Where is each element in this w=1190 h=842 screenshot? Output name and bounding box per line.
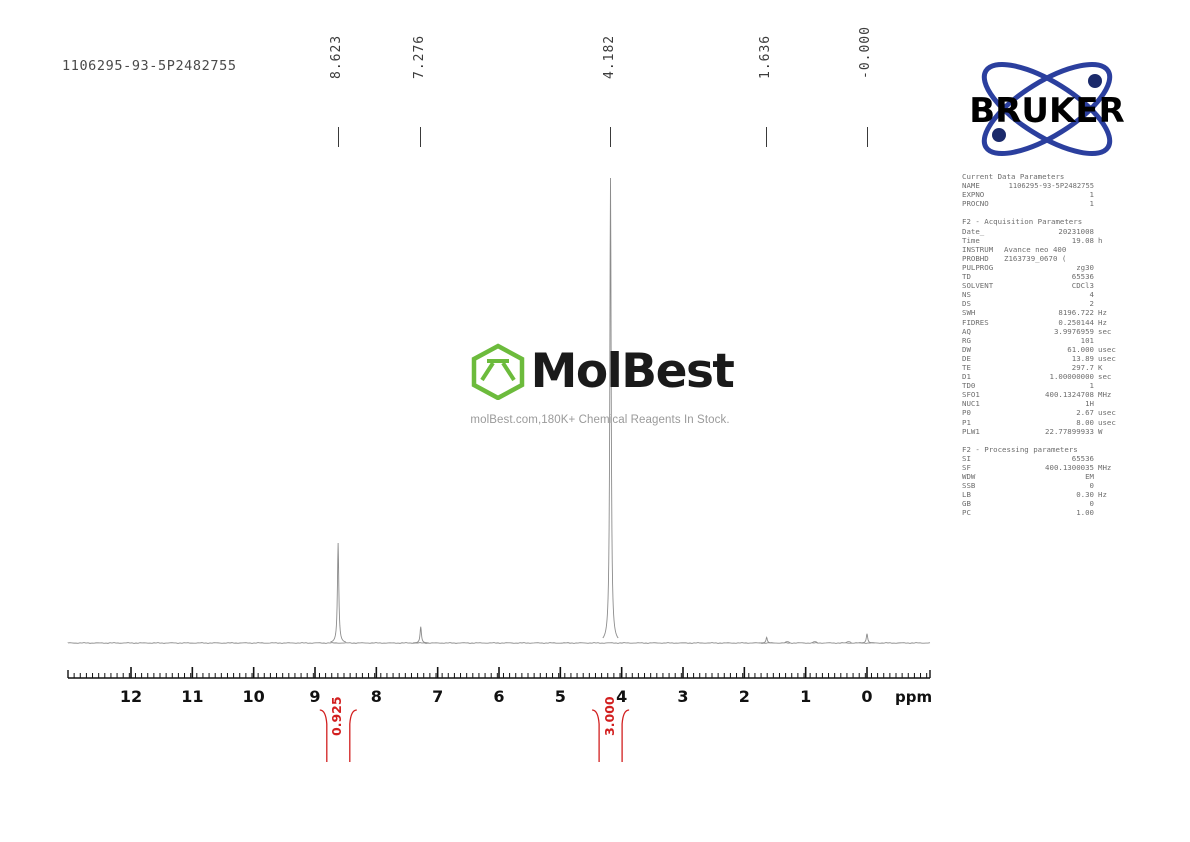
- param-unit: [1094, 290, 1124, 299]
- param-section-heading: Current Data Parameters: [962, 172, 1124, 181]
- param-value: 65536: [1004, 454, 1094, 463]
- param-key: DE: [962, 354, 1004, 363]
- param-unit: MHz: [1094, 390, 1124, 399]
- param-key: SF: [962, 463, 1004, 472]
- param-row: WDWEM: [962, 472, 1124, 481]
- param-key: D1: [962, 372, 1004, 381]
- param-row: EXPNO1: [962, 190, 1124, 199]
- param-value: 101: [1004, 336, 1094, 345]
- param-key: PLW1: [962, 427, 1004, 436]
- param-value: 3.9976959: [1004, 327, 1094, 336]
- param-row: AQ3.9976959sec: [962, 327, 1124, 336]
- param-row: D11.00000000sec: [962, 372, 1124, 381]
- param-key: NUC1: [962, 399, 1004, 408]
- param-unit: [1094, 272, 1124, 281]
- param-unit: [1094, 199, 1124, 208]
- param-row: PC1.00: [962, 508, 1124, 517]
- param-key: P0: [962, 408, 1004, 417]
- param-key: PULPROG: [962, 263, 1004, 272]
- param-row: PROCNO1: [962, 199, 1124, 208]
- param-key: FIDRES: [962, 318, 1004, 327]
- param-value: 8.00: [1004, 418, 1094, 427]
- param-row: NS4: [962, 290, 1124, 299]
- param-value: 1H: [1004, 399, 1094, 408]
- param-value: 13.89: [1004, 354, 1094, 363]
- param-value: 1106295-93-5P2482755: [1004, 181, 1094, 190]
- param-unit: [1094, 336, 1124, 345]
- param-unit: Hz: [1094, 490, 1124, 499]
- param-row: PROBHDZ163739_0670 (: [962, 254, 1124, 263]
- param-key: SOLVENT: [962, 281, 1004, 290]
- param-row: DW61.000usec: [962, 345, 1124, 354]
- param-unit: [1094, 481, 1124, 490]
- param-section-gap: [962, 208, 1124, 217]
- param-value: 0.30: [1004, 490, 1094, 499]
- param-key: INSTRUM: [962, 245, 1004, 254]
- param-row: TD01: [962, 381, 1124, 390]
- param-value: 20231008: [1004, 227, 1094, 236]
- param-value: Avance neo 400: [1004, 245, 1124, 254]
- param-row: LB0.30Hz: [962, 490, 1124, 499]
- param-key: RG: [962, 336, 1004, 345]
- param-unit: sec: [1094, 372, 1124, 381]
- param-unit: [1094, 299, 1124, 308]
- param-value: 1: [1004, 199, 1094, 208]
- param-value: 2.67: [1004, 408, 1094, 417]
- integral-value-label: 0.925: [329, 696, 344, 736]
- param-row: SF400.1300035MHz: [962, 463, 1124, 472]
- param-row: RG101: [962, 336, 1124, 345]
- orbit-node-icon: [1088, 74, 1102, 88]
- param-key: PROBHD: [962, 254, 1004, 263]
- param-row: SI65536: [962, 454, 1124, 463]
- param-value: 0: [1004, 481, 1094, 490]
- integral-value-label: 3.000: [602, 696, 617, 736]
- param-key: PC: [962, 508, 1004, 517]
- param-unit: sec: [1094, 327, 1124, 336]
- param-key: PROCNO: [962, 199, 1004, 208]
- param-key: AQ: [962, 327, 1004, 336]
- param-row: NUC11H: [962, 399, 1124, 408]
- bruker-logo: BRUKER: [958, 56, 1136, 162]
- param-key: EXPNO: [962, 190, 1004, 199]
- param-key: SI: [962, 454, 1004, 463]
- param-row: NAME1106295-93-5P2482755: [962, 181, 1124, 190]
- param-unit: [1094, 227, 1124, 236]
- param-unit: h: [1094, 236, 1124, 245]
- param-key: WDW: [962, 472, 1004, 481]
- param-value: EM: [1004, 472, 1094, 481]
- param-row: Time19.08h: [962, 236, 1124, 245]
- param-value: 1.00: [1004, 508, 1094, 517]
- param-unit: [1094, 454, 1124, 463]
- param-unit: [1094, 508, 1124, 517]
- param-unit: Hz: [1094, 318, 1124, 327]
- param-unit: usec: [1094, 408, 1124, 417]
- param-value: 1: [1004, 381, 1094, 390]
- param-value: 297.7: [1004, 363, 1094, 372]
- param-row: TD65536: [962, 272, 1124, 281]
- param-key: SSB: [962, 481, 1004, 490]
- param-unit: usec: [1094, 345, 1124, 354]
- param-value: 400.1300035: [1004, 463, 1094, 472]
- param-unit: [1094, 381, 1124, 390]
- param-row: SSB0: [962, 481, 1124, 490]
- param-value: 1: [1004, 190, 1094, 199]
- param-row: P18.00usec: [962, 418, 1124, 427]
- param-key: TD: [962, 272, 1004, 281]
- param-unit: [1094, 263, 1124, 272]
- param-unit: [1094, 399, 1124, 408]
- param-value: zg30: [1004, 263, 1094, 272]
- param-row: SWH8196.722Hz: [962, 308, 1124, 317]
- param-row: PLW122.77899933W: [962, 427, 1124, 436]
- param-row: PULPROGzg30: [962, 263, 1124, 272]
- param-key: GB: [962, 499, 1004, 508]
- param-unit: MHz: [1094, 463, 1124, 472]
- param-row: GB0: [962, 499, 1124, 508]
- param-section-heading: F2 - Acquisition Parameters: [962, 217, 1124, 226]
- param-unit: [1094, 281, 1124, 290]
- param-row: DS2: [962, 299, 1124, 308]
- param-value: 8196.722: [1004, 308, 1094, 317]
- param-row: DE13.89usec: [962, 354, 1124, 363]
- param-key: SWH: [962, 308, 1004, 317]
- param-unit: [1094, 499, 1124, 508]
- param-value: 19.08: [1004, 236, 1094, 245]
- param-value: 61.000: [1004, 345, 1094, 354]
- acquisition-parameters-block: Current Data ParametersNAME1106295-93-5P…: [962, 172, 1124, 518]
- param-key: P1: [962, 418, 1004, 427]
- param-unit: usec: [1094, 418, 1124, 427]
- param-unit: [1094, 181, 1124, 190]
- param-value: 4: [1004, 290, 1094, 299]
- param-unit: usec: [1094, 354, 1124, 363]
- param-unit: W: [1094, 427, 1124, 436]
- param-key: NAME: [962, 181, 1004, 190]
- param-value: 0.250144: [1004, 318, 1094, 327]
- param-value: 0: [1004, 499, 1094, 508]
- param-unit: [1094, 472, 1124, 481]
- param-section-gap: [962, 436, 1124, 445]
- param-unit: K: [1094, 363, 1124, 372]
- param-key: NS: [962, 290, 1004, 299]
- param-key: TD0: [962, 381, 1004, 390]
- param-row: TE297.7K: [962, 363, 1124, 372]
- bruker-wordmark: BRUKER: [969, 91, 1124, 131]
- param-value: 65536: [1004, 272, 1094, 281]
- param-section-heading: F2 - Processing parameters: [962, 445, 1124, 454]
- param-key: DS: [962, 299, 1004, 308]
- param-row: Date_20231008: [962, 227, 1124, 236]
- param-row: P02.67usec: [962, 408, 1124, 417]
- param-value: 22.77899933: [1004, 427, 1094, 436]
- param-key: SFO1: [962, 390, 1004, 399]
- param-value: CDCl3: [1004, 281, 1094, 290]
- param-value: 400.1324708: [1004, 390, 1094, 399]
- param-value: Z163739_0670 (: [1004, 254, 1124, 263]
- param-value: 1.00000000: [1004, 372, 1094, 381]
- param-key: Time: [962, 236, 1004, 245]
- param-key: Date_: [962, 227, 1004, 236]
- param-unit: Hz: [1094, 308, 1124, 317]
- param-key: DW: [962, 345, 1004, 354]
- param-unit: [1094, 190, 1124, 199]
- param-row: SOLVENTCDCl3: [962, 281, 1124, 290]
- param-row: SFO1400.1324708MHz: [962, 390, 1124, 399]
- param-row: INSTRUMAvance neo 400: [962, 245, 1124, 254]
- param-row: FIDRES0.250144Hz: [962, 318, 1124, 327]
- param-key: TE: [962, 363, 1004, 372]
- param-key: LB: [962, 490, 1004, 499]
- param-value: 2: [1004, 299, 1094, 308]
